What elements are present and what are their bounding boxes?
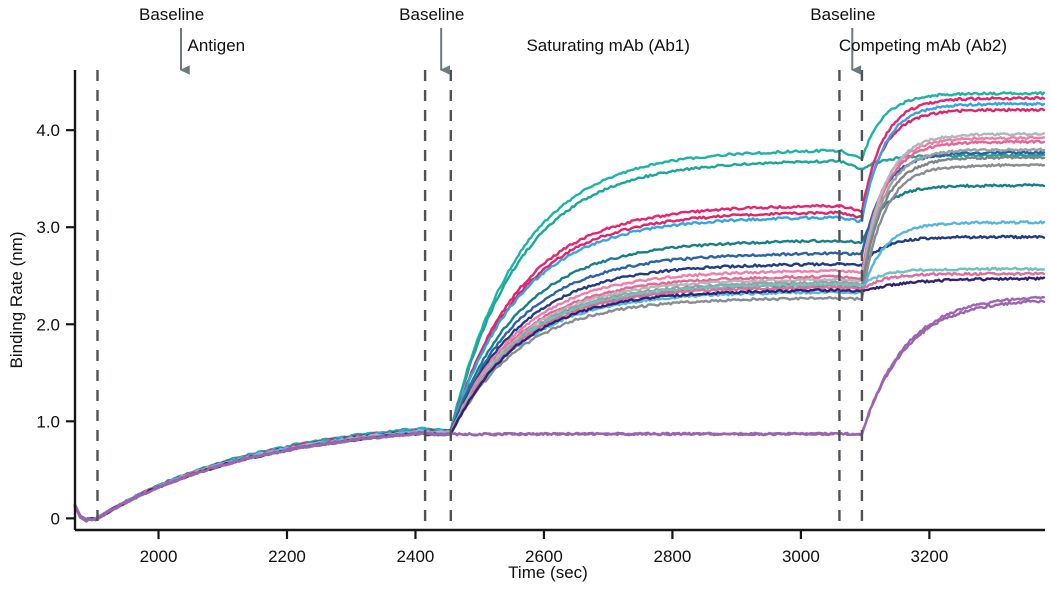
- x-tick-label: 2400: [397, 547, 435, 566]
- y-axis-title: Binding Rate (nm): [7, 231, 26, 368]
- baseline-label-3: Baseline: [810, 5, 875, 25]
- x-tick-label: 2000: [140, 547, 178, 566]
- phase-label-competing-mab: Competing mAb (Ab2): [839, 36, 1007, 56]
- x-tick-label: 2200: [268, 547, 306, 566]
- phase-label-antigen: Antigen: [187, 36, 245, 56]
- x-axis-title: Time (sec): [508, 563, 588, 582]
- trace-line: [75, 301, 1044, 520]
- trace-line: [75, 221, 1044, 521]
- trace-line: [75, 268, 1044, 521]
- traces-group: [75, 92, 1044, 521]
- phase-label-saturating-mab: Saturating mAb (Ab1): [526, 36, 689, 56]
- trace-line: [75, 297, 1044, 521]
- y-tick-label: 2.0: [36, 315, 60, 334]
- baseline-label-2: Baseline: [399, 5, 464, 25]
- chart-canvas: 01.02.03.04.0200022002400260028003000320…: [0, 0, 1050, 590]
- y-tick-label: 4.0: [36, 121, 60, 140]
- x-tick-label: 3000: [782, 547, 820, 566]
- y-tick-label: 3.0: [36, 218, 60, 237]
- baseline-arrows-group: [181, 28, 852, 70]
- x-tick-label: 2800: [654, 547, 692, 566]
- x-tick-label: 3200: [910, 547, 948, 566]
- trace-line: [75, 92, 1044, 521]
- binding-rate-chart: 01.02.03.04.0200022002400260028003000320…: [0, 0, 1050, 590]
- baseline-label-1: Baseline: [139, 5, 204, 25]
- y-tick-label: 0: [51, 509, 60, 528]
- y-tick-label: 1.0: [36, 412, 60, 431]
